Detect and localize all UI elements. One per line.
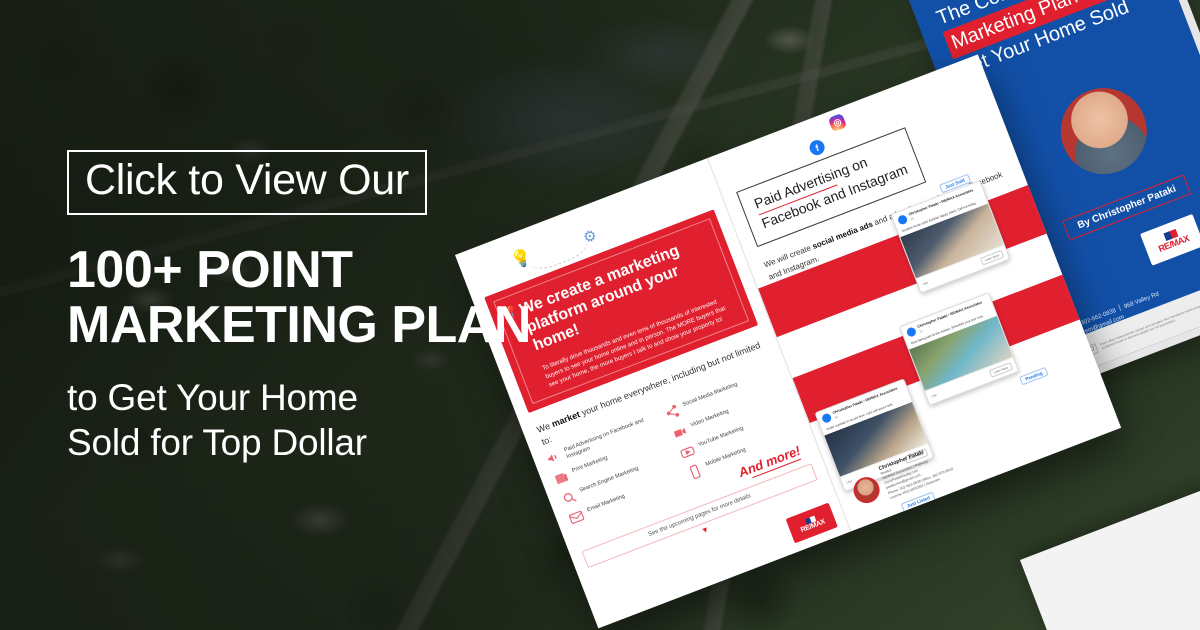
banner-headline-block: Click to View Our 100+ POINT MARKETING P… xyxy=(67,150,537,465)
instagram-icon: ◎ xyxy=(828,113,847,132)
share-network-icon xyxy=(662,402,681,421)
page-subtitle: to Get Your Home Sold for Top Dollar xyxy=(67,375,537,465)
agent-avatar xyxy=(850,474,884,508)
facebook-icon: f xyxy=(807,138,826,157)
ad-cta-button[interactable]: Learn More xyxy=(980,250,1005,266)
click-to-view-button[interactable]: Click to View Our xyxy=(67,150,427,215)
market-lead-bold: market xyxy=(550,410,581,430)
youtube-icon xyxy=(678,443,697,462)
ad-cta-button[interactable]: Learn More xyxy=(989,362,1014,378)
remax-logo-book: RE/MAX xyxy=(1140,214,1200,266)
cta-label: Click to View Our xyxy=(85,156,409,204)
author-portrait xyxy=(1048,76,1159,187)
megaphone-icon xyxy=(544,448,563,467)
headline-line2: MARKETING PLAN xyxy=(67,298,537,353)
headline-line1: 100+ POINT xyxy=(67,243,537,298)
page-title: 100+ POINT MARKETING PLAN xyxy=(67,243,537,353)
avatar xyxy=(821,412,833,424)
video-camera-icon xyxy=(671,423,690,442)
search-engine-icon xyxy=(559,488,578,507)
status-badge: Pending xyxy=(1019,367,1048,385)
subhead-line1: to Get Your Home xyxy=(67,375,537,420)
ad-like-label: Like xyxy=(931,393,938,399)
avatar xyxy=(906,326,918,338)
ad-like-label: Like xyxy=(922,281,929,287)
avatar xyxy=(897,214,909,226)
newspaper-icon xyxy=(552,469,571,488)
subhead-line2: Sold for Top Dollar xyxy=(67,420,537,465)
remax-logo-left-page: RE/MAX xyxy=(786,503,838,544)
